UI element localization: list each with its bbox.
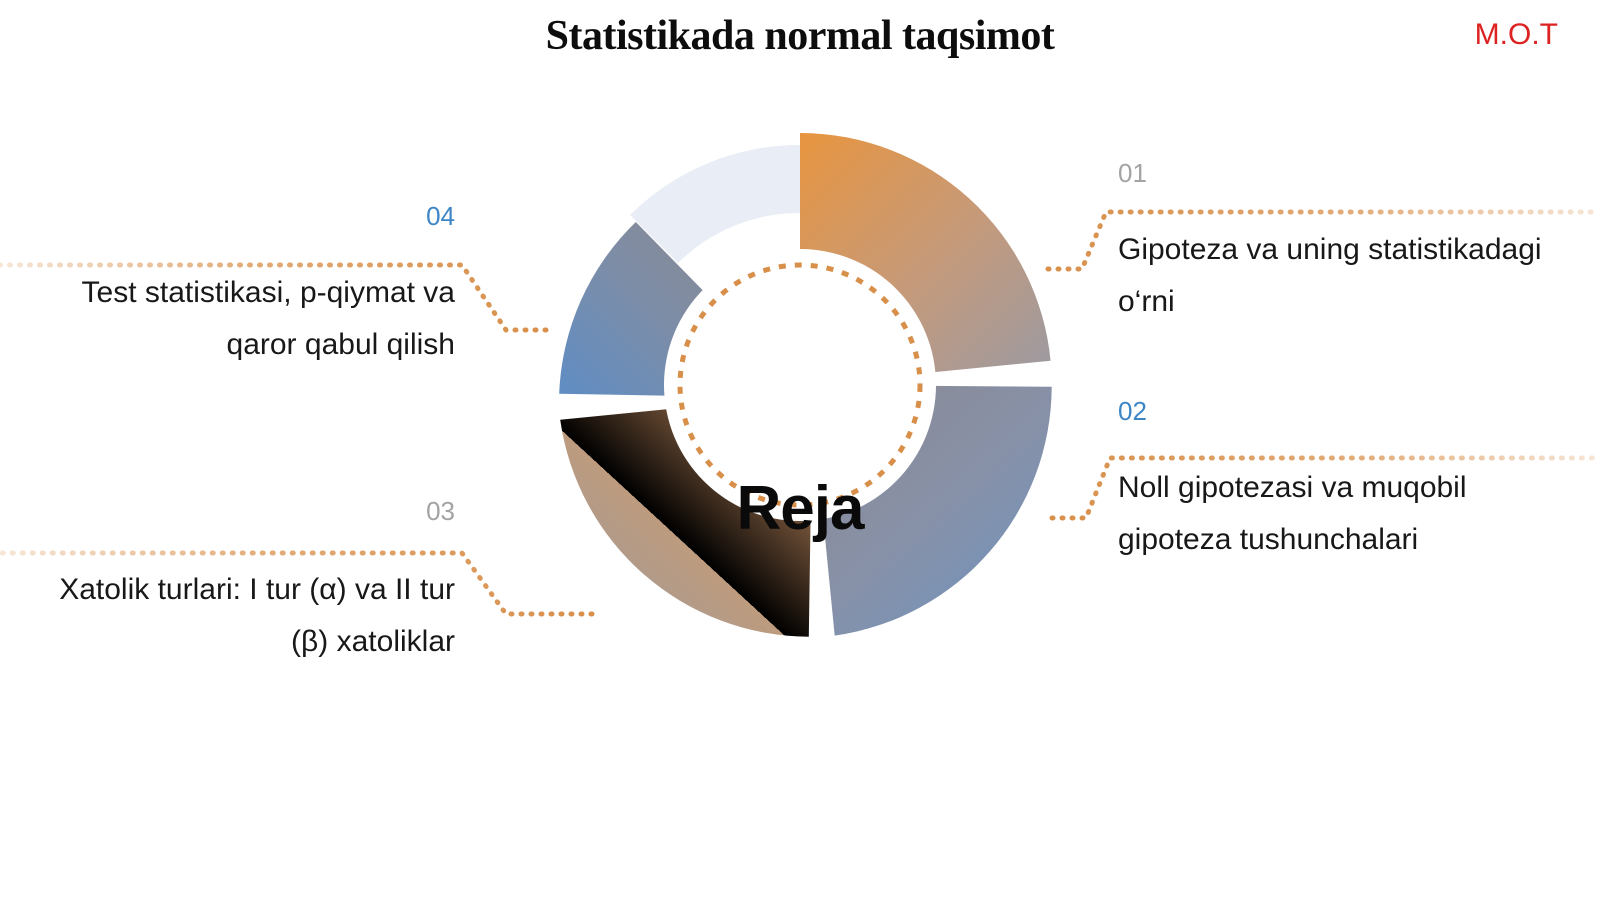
callout-01-text: Gipoteza va uning statistikadagi o‘rni [1118, 224, 1548, 328]
page-title: Statistikada normal taqsimot [0, 12, 1600, 60]
callout-03[interactable]: 03 Xatolik turlari: I tur (α) va II tur … [55, 498, 455, 668]
callout-04-number: 04 [55, 203, 455, 229]
callout-02-text: Noll gipotezasi va muqobil gipoteza tush… [1118, 462, 1548, 566]
brand-label: M.O.T [1475, 18, 1558, 52]
donut-chart: Reja [500, 85, 1100, 705]
callout-01-number: 01 [1118, 160, 1548, 186]
callout-04-text: Test statistikasi, p-qiymat va qaror qab… [55, 267, 455, 371]
callout-04[interactable]: 04 Test statistikasi, p-qiymat va qaror … [55, 203, 455, 371]
callout-02-number: 02 [1118, 398, 1548, 424]
slide-root: Statistikada normal taqsimot M.O.T [0, 0, 1600, 899]
callout-03-text: Xatolik turlari: I tur (α) va II tur (β)… [55, 564, 455, 668]
donut-center-label: Reja [500, 473, 1100, 544]
callout-01[interactable]: 01 Gipoteza va uning statistikadagi o‘rn… [1118, 160, 1548, 328]
callout-02[interactable]: 02 Noll gipotezasi va muqobil gipoteza t… [1118, 398, 1548, 566]
callout-03-number: 03 [55, 498, 455, 524]
